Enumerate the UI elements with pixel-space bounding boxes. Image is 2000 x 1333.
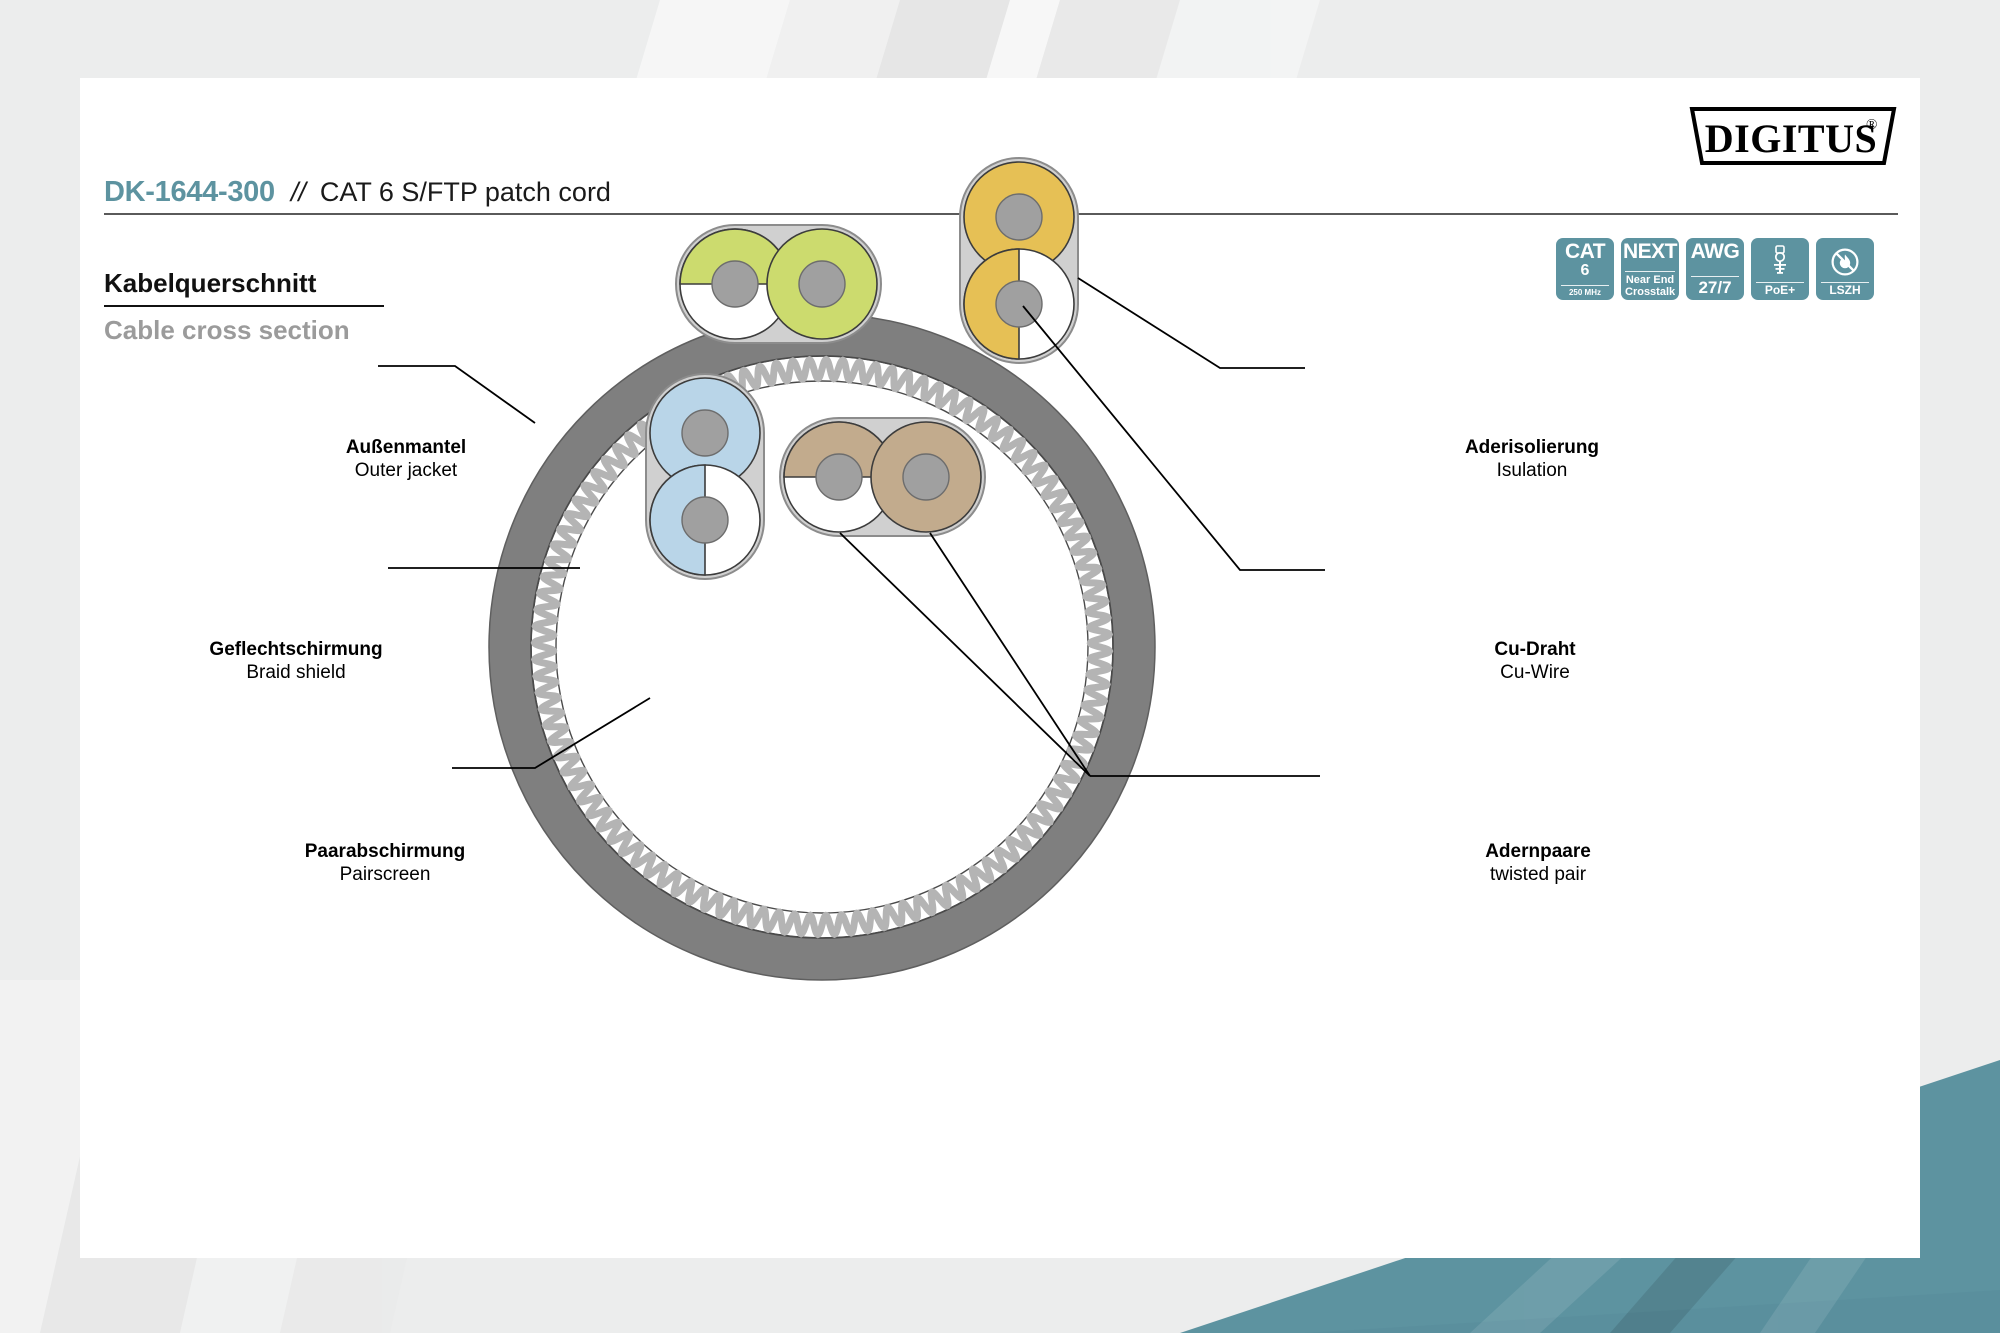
brown-wire-solid <box>871 422 981 532</box>
callout-insulation-de: Aderisolierung <box>1432 436 1632 459</box>
callout-cu-wire-de: Cu-Draht <box>1450 638 1620 661</box>
leader-outer-jacket <box>378 366 535 423</box>
callout-cu-wire: Cu-Draht Cu-Wire <box>1450 638 1620 684</box>
callout-twisted-pair-en: twisted pair <box>1438 863 1638 886</box>
callout-pairscreen-de: Paarabschirmung <box>280 840 490 863</box>
yellow-wire-striped <box>964 249 1074 359</box>
blue-pair <box>646 374 764 579</box>
leader-insulation <box>1078 278 1305 368</box>
callout-pairscreen-en: Pairscreen <box>280 863 490 886</box>
green-pair <box>676 225 881 343</box>
callout-outer-jacket: Außenmantel Outer jacket <box>316 436 496 482</box>
green-wire-solid <box>767 229 877 339</box>
callout-insulation: Aderisolierung Isulation <box>1432 436 1632 482</box>
callout-outer-jacket-en: Outer jacket <box>316 459 496 482</box>
brown-pair <box>780 418 985 536</box>
callout-outer-jacket-de: Außenmantel <box>316 436 496 459</box>
callout-braid-shield-de: Geflechtschirmung <box>186 638 406 661</box>
callout-braid-shield: Geflechtschirmung Braid shield <box>186 638 406 684</box>
outer-jacket <box>489 314 1155 980</box>
callout-twisted-pair: Adernpaare twisted pair <box>1438 840 1638 886</box>
callout-cu-wire-en: Cu-Wire <box>1450 661 1620 684</box>
callout-braid-shield-en: Braid shield <box>186 661 406 684</box>
yellow-pair <box>960 158 1078 363</box>
callout-twisted-pair-de: Adernpaare <box>1438 840 1638 863</box>
blue-wire-striped <box>650 465 760 575</box>
callout-pairscreen: Paarabschirmung Pairscreen <box>280 840 490 886</box>
callout-insulation-en: Isulation <box>1432 459 1632 482</box>
